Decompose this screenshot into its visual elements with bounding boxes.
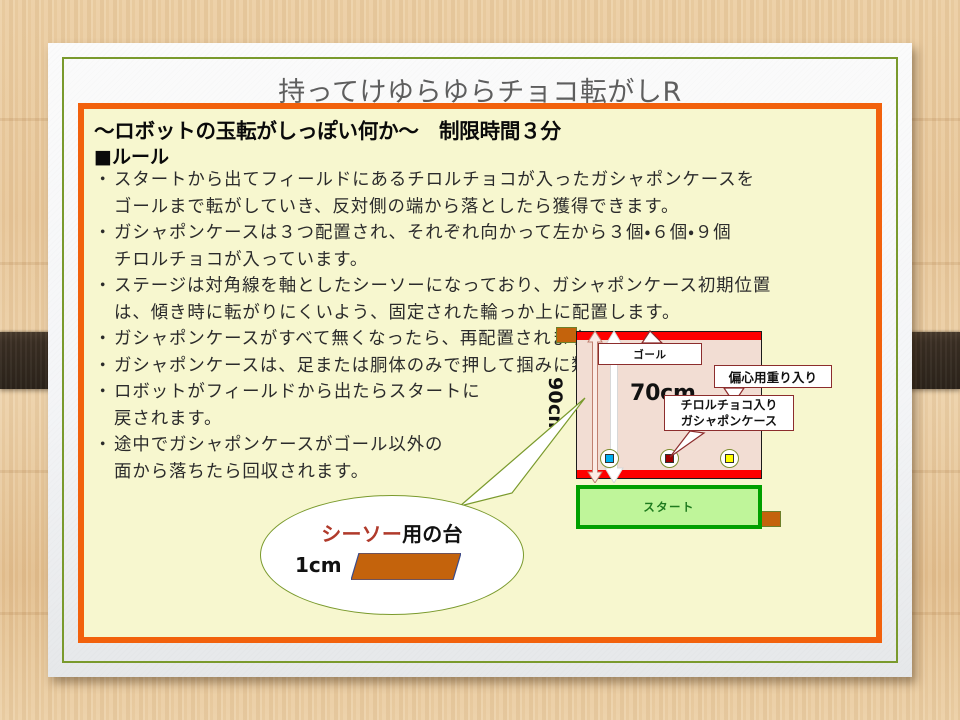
- case-red-icon: [665, 454, 674, 463]
- list-item: [660, 449, 679, 468]
- list-item: [720, 449, 739, 468]
- list-item: ・ スタートから出てフィールドにあるチロルチョコが入ったガシャポンケースを ゴー…: [94, 167, 870, 220]
- seesaw-pivot-marker: [556, 327, 577, 343]
- seesaw-pivot-marker: [760, 511, 781, 527]
- bullet-icon: ・: [94, 326, 114, 353]
- rule-text: ガシャポンケースは３つ配置され、それぞれ向かって左から３個・６個・９個 チロルチ…: [114, 220, 870, 273]
- callout-gashapon-case: チロルチョコ入り ガシャポンケース: [664, 395, 794, 431]
- start-area: スタート: [576, 485, 762, 529]
- seesaw-callout-bubble: シーソー用の台 1cm: [260, 495, 524, 615]
- seesaw-ramp-shape: [351, 553, 461, 580]
- callout-eccentric-weight: 偏心用重り入り: [714, 365, 832, 388]
- callout-case-line2: ガシャポンケース: [681, 414, 777, 428]
- bullet-icon: ・: [94, 432, 114, 459]
- bubble-thickness-label: 1cm: [295, 553, 342, 577]
- bullet-icon: ・: [94, 273, 114, 300]
- case-yellow-icon: [725, 454, 734, 463]
- bullet-icon: ・: [94, 220, 114, 247]
- list-item: ・ ガシャポンケースは３つ配置され、それぞれ向かって左から３個・６個・９個 チロ…: [94, 220, 870, 273]
- bubble-title-accent: シーソー: [321, 522, 402, 546]
- bullet-icon: ・: [94, 379, 114, 406]
- bubble-title-rest: 用の台: [402, 522, 463, 546]
- list-item: [600, 449, 619, 468]
- subtitle-line: 〜ロボットの玉転がしっぽい何か〜 制限時間３分: [94, 114, 561, 144]
- rule-text: スタートから出てフィールドにあるチロルチョコが入ったガシャポンケースを ゴールま…: [114, 167, 870, 220]
- rules-heading: ■ルール: [94, 142, 169, 169]
- slide-stage: 持ってけゆらゆらチョコ転がしR 〜ロボットの玉転がしっぽい何か〜 制限時間３分 …: [0, 0, 960, 720]
- bubble-title: シーソー用の台: [261, 518, 523, 547]
- callout-case-line1: チロルチョコ入り: [681, 398, 778, 412]
- rule-text: ステージは対角線を軸としたシーソーになっており、ガシャポンケース初期位置 は、傾…: [114, 273, 870, 326]
- bullet-icon: ・: [94, 353, 114, 380]
- callout-goal: ゴール: [598, 343, 702, 365]
- list-item: ・ ステージは対角線を軸としたシーソーになっており、ガシャポンケース初期位置 は…: [94, 273, 870, 326]
- case-blue-icon: [605, 454, 614, 463]
- bullet-icon: ・: [94, 167, 114, 194]
